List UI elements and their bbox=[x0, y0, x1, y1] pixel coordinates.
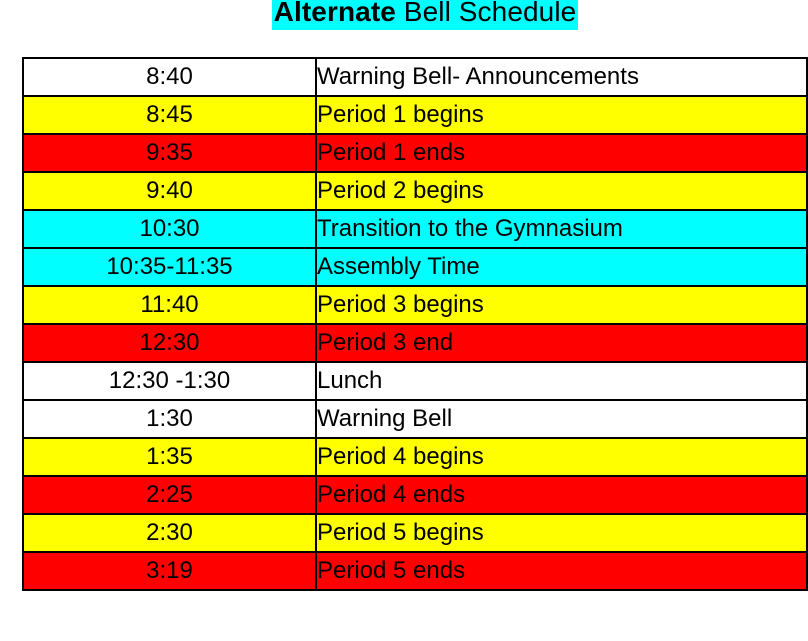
schedule-time-cell: 1:30 bbox=[23, 400, 316, 438]
table-row: 9:35Period 1 ends bbox=[23, 134, 807, 172]
table-row: 10:35-11:35Assembly Time bbox=[23, 248, 807, 286]
schedule-time-cell: 10:30 bbox=[23, 210, 316, 248]
bell-schedule-table: 8:40Warning Bell- Announcements8:45Perio… bbox=[22, 57, 808, 591]
schedule-event-cell: Warning Bell- Announcements bbox=[316, 58, 807, 96]
schedule-time-cell: 2:30 bbox=[23, 514, 316, 552]
table-row: 8:45Period 1 begins bbox=[23, 96, 807, 134]
schedule-event-cell: Assembly Time bbox=[316, 248, 807, 286]
schedule-time-cell: 9:40 bbox=[23, 172, 316, 210]
table-row: 9:40Period 2 begins bbox=[23, 172, 807, 210]
document-page: Alternate Bell Schedule 8:40Warning Bell… bbox=[0, 0, 808, 641]
table-row: 8:40Warning Bell- Announcements bbox=[23, 58, 807, 96]
schedule-time-cell: 11:40 bbox=[23, 286, 316, 324]
schedule-event-cell: Period 2 begins bbox=[316, 172, 807, 210]
table-row: 1:30Warning Bell bbox=[23, 400, 807, 438]
schedule-time-cell: 12:30 -1:30 bbox=[23, 362, 316, 400]
schedule-event-cell: Warning Bell bbox=[316, 400, 807, 438]
schedule-event-cell: Period 3 begins bbox=[316, 286, 807, 324]
schedule-time-cell: 2:25 bbox=[23, 476, 316, 514]
schedule-time-cell: 3:19 bbox=[23, 552, 316, 590]
schedule-time-cell: 8:45 bbox=[23, 96, 316, 134]
schedule-time-cell: 1:35 bbox=[23, 438, 316, 476]
bell-schedule-table-body: 8:40Warning Bell- Announcements8:45Perio… bbox=[23, 58, 807, 590]
table-row: 3:19Period 5 ends bbox=[23, 552, 807, 590]
schedule-event-cell: Lunch bbox=[316, 362, 807, 400]
table-row: 2:30Period 5 begins bbox=[23, 514, 807, 552]
schedule-time-cell: 9:35 bbox=[23, 134, 316, 172]
schedule-event-cell: Period 5 ends bbox=[316, 552, 807, 590]
table-row: 12:30Period 3 end bbox=[23, 324, 807, 362]
schedule-event-cell: Period 1 begins bbox=[316, 96, 807, 134]
table-row: 12:30 -1:30Lunch bbox=[23, 362, 807, 400]
schedule-event-cell: Transition to the Gymnasium bbox=[316, 210, 807, 248]
schedule-event-cell: Period 1 ends bbox=[316, 134, 807, 172]
bell-schedule-table-wrapper: 8:40Warning Bell- Announcements8:45Perio… bbox=[22, 57, 806, 591]
document-title-row: Alternate Bell Schedule bbox=[0, 0, 808, 41]
table-row: 11:40Period 3 begins bbox=[23, 286, 807, 324]
page-title: Alternate Bell Schedule bbox=[272, 0, 579, 30]
schedule-time-cell: 8:40 bbox=[23, 58, 316, 96]
schedule-event-cell: Period 5 begins bbox=[316, 514, 807, 552]
page-title-emphasis: Alternate bbox=[274, 0, 396, 27]
page-title-rest: Bell Schedule bbox=[396, 0, 576, 27]
schedule-event-cell: Period 4 ends bbox=[316, 476, 807, 514]
schedule-event-cell: Period 4 begins bbox=[316, 438, 807, 476]
schedule-time-cell: 10:35-11:35 bbox=[23, 248, 316, 286]
table-row: 2:25Period 4 ends bbox=[23, 476, 807, 514]
schedule-time-cell: 12:30 bbox=[23, 324, 316, 362]
table-row: 1:35Period 4 begins bbox=[23, 438, 807, 476]
table-row: 10:30Transition to the Gymnasium bbox=[23, 210, 807, 248]
schedule-event-cell: Period 3 end bbox=[316, 324, 807, 362]
